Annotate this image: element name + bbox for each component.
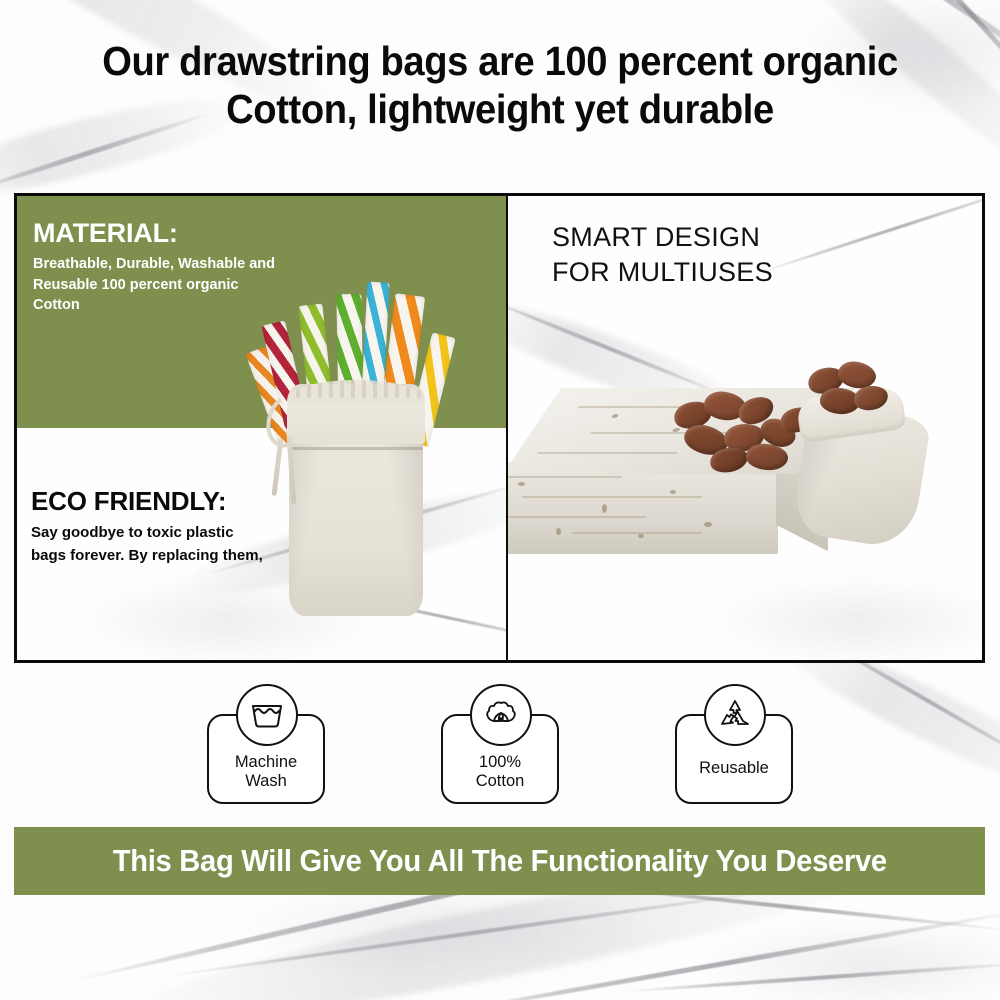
cotton-boll-icon bbox=[470, 684, 532, 746]
badge-label-line-1: Reusable bbox=[675, 759, 793, 778]
recycle-icon bbox=[704, 684, 766, 746]
stone-sack-image bbox=[524, 336, 974, 646]
stone-slab-front bbox=[506, 462, 778, 554]
feature-badges: Machine Wash 100% Cotton bbox=[0, 684, 1000, 814]
wash-tub-icon bbox=[236, 684, 298, 746]
bottom-banner: This Bag Will Give You All The Functiona… bbox=[14, 827, 985, 895]
eco-friendly-heading: ECO FRIENDLY: bbox=[31, 486, 226, 517]
page-title: Our drawstring bags are 100 percent orga… bbox=[35, 38, 965, 133]
badge-machine-wash[interactable]: Machine Wash bbox=[207, 684, 325, 804]
feature-panels: MATERIAL: Breathable, Durable, Washable … bbox=[14, 193, 985, 663]
badge-label-line-1: 100% bbox=[441, 753, 559, 772]
drawstring-cord-tail-1 bbox=[271, 438, 283, 496]
badge-label-line-2: Cotton bbox=[441, 772, 559, 791]
cotton-sack bbox=[792, 364, 928, 544]
eco-friendly-body-text: Say goodbye to toxic plastic bags foreve… bbox=[31, 522, 271, 568]
infographic-page: Our drawstring bags are 100 percent orga… bbox=[0, 0, 1000, 1000]
panel-material-eco: MATERIAL: Breathable, Durable, Washable … bbox=[14, 193, 508, 663]
material-heading: MATERIAL: bbox=[33, 218, 178, 249]
badge-label-line-2: Wash bbox=[207, 772, 325, 791]
bottom-banner-text: This Bag Will Give You All The Functiona… bbox=[112, 843, 886, 879]
candy-bag-image bbox=[265, 216, 495, 616]
headline-line-2: Cotton, lightweight yet durable bbox=[35, 86, 965, 134]
headline-line-1: Our drawstring bags are 100 percent orga… bbox=[35, 38, 965, 86]
smart-design-heading: SMART DESIGN FOR MULTIUSES bbox=[552, 220, 773, 290]
badge-100-cotton[interactable]: 100% Cotton bbox=[441, 684, 559, 804]
badge-label: Machine Wash bbox=[207, 753, 325, 791]
badge-label: Reusable bbox=[675, 759, 793, 778]
badge-label: 100% Cotton bbox=[441, 753, 559, 791]
smart-design-heading-line-1: SMART DESIGN bbox=[552, 220, 773, 255]
badge-label-line-1: Machine bbox=[207, 753, 325, 772]
panel-smart-design: SMART DESIGN FOR MULTIUSES bbox=[506, 193, 985, 663]
badge-reusable[interactable]: Reusable bbox=[675, 684, 793, 804]
material-body-text: Breathable, Durable, Washable and Reusab… bbox=[33, 254, 288, 316]
smart-design-heading-line-2: FOR MULTIUSES bbox=[552, 255, 773, 290]
drawstring-bag-seam bbox=[289, 447, 423, 450]
